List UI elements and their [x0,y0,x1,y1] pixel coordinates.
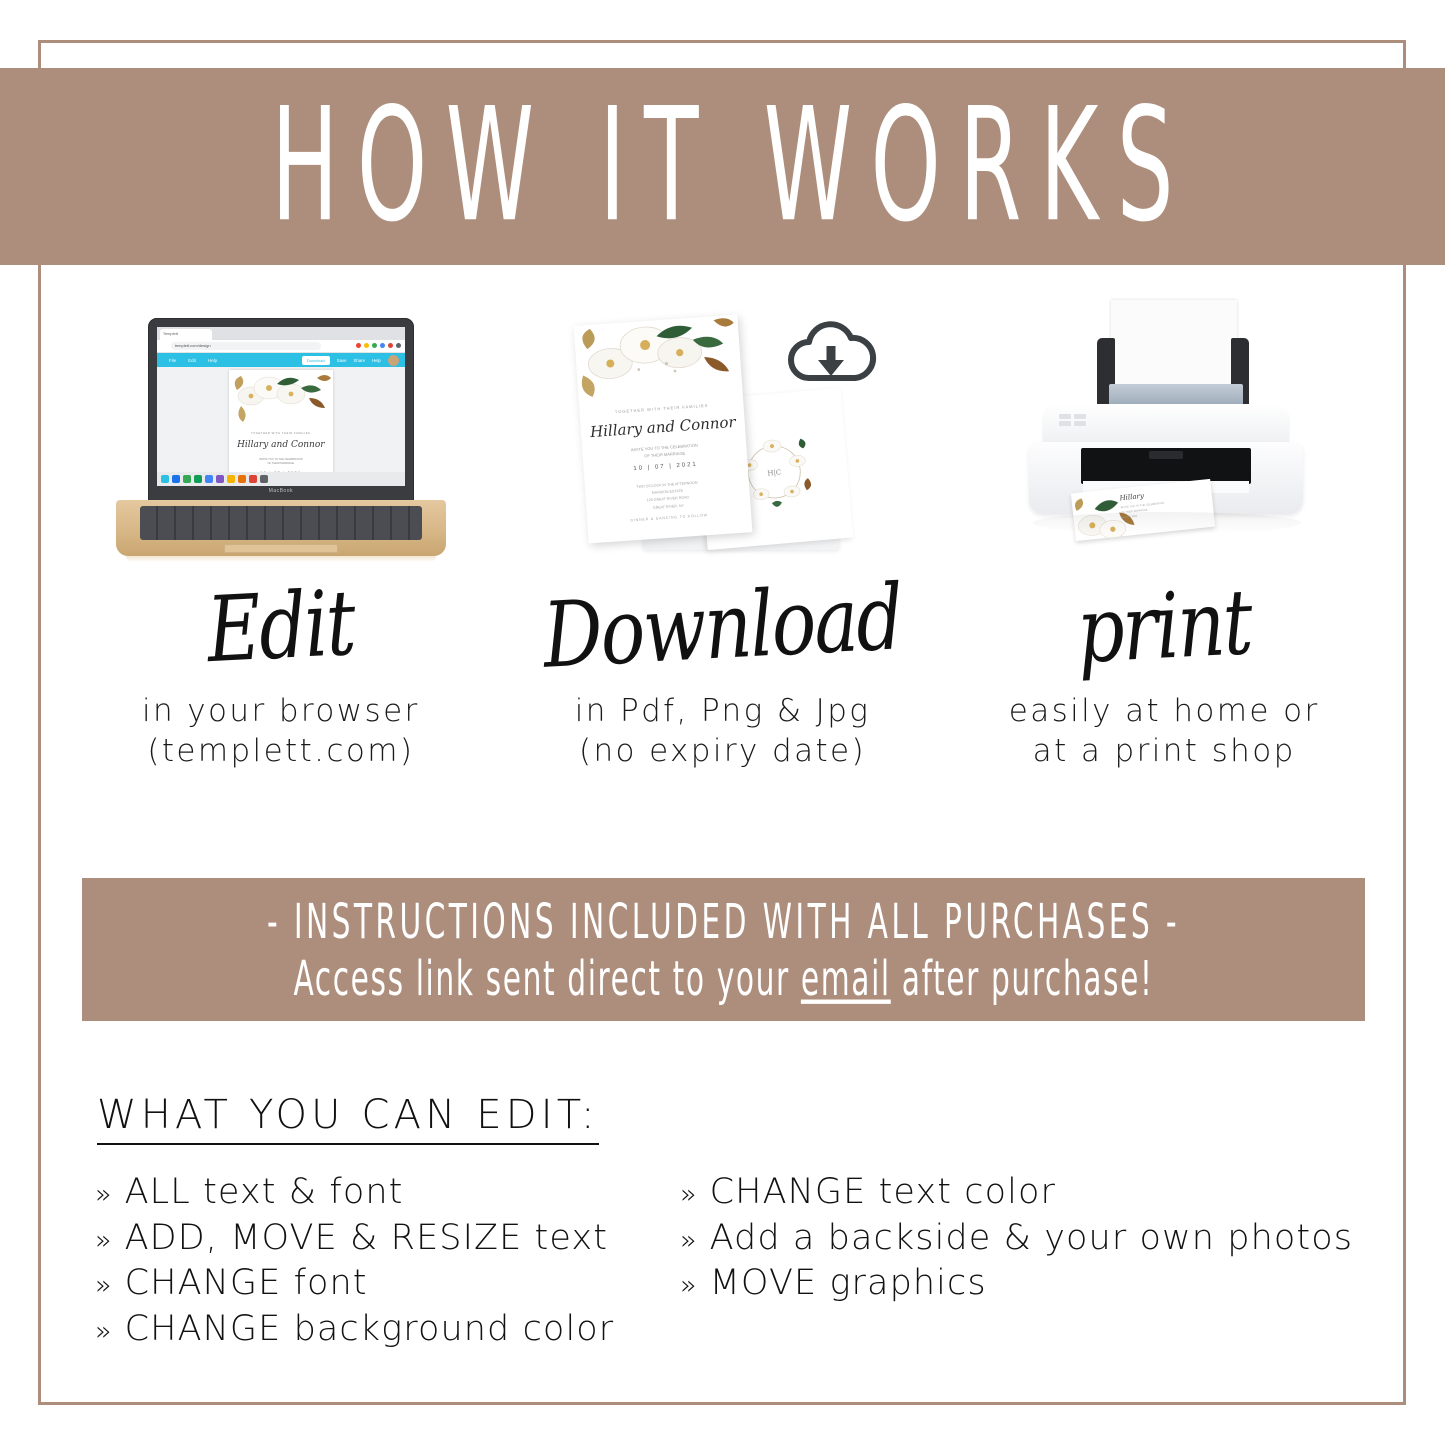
step-download: H|C [502,278,944,808]
edit-feature-lists: » ALL text & font » ADD, MOVE & RESIZE t… [95,1172,1395,1355]
bullet-icon: » [95,1225,113,1257]
list-item: » MOVE graphics [680,1263,1395,1305]
laptop-screen: Templett templett.com/design File Edit [157,327,405,486]
edit-list-left: » ALL text & font » ADD, MOVE & RESIZE t… [95,1172,680,1355]
list-item: » CHANGE background color [95,1309,680,1351]
printer-control-panel [1059,414,1089,434]
bullet-icon: » [680,1179,698,1211]
bullet-icon: » [95,1316,113,1348]
list-item-label: CHANGE font [125,1263,368,1305]
cloud-download-icon [785,316,877,390]
bullet-icon: » [95,1270,113,1302]
list-item-label: CHANGE background color [125,1309,615,1351]
instructions-subline-before: Access link sent direct to your [293,950,800,1007]
editor-menu-file: File [169,358,176,363]
step-edit-illustration: Templett templett.com/design File Edit [60,278,502,568]
list-item: » CHANGE text color [680,1172,1395,1214]
laptop-keyboard [140,506,422,540]
laptop-illustration: Templett templett.com/design File Edit [116,318,446,568]
edit-section-title: WHAT YOU CAN EDIT: [97,1092,599,1145]
editor-share-button: Share [354,358,365,363]
step-print-illustration: Hillary INVITE YOU TO THE CELEBRATIONOF … [943,278,1385,568]
editor-canvas: TOGETHER WITH THEIR FAMILIES Hillary and… [157,367,405,472]
email-link[interactable]: email [801,950,891,1007]
floral-graphic [573,315,742,408]
editor-toolbar-actions: Download Save Share Help [302,355,399,366]
list-item-label: CHANGE text color [710,1172,1056,1214]
list-item: » ADD, MOVE & RESIZE text [95,1218,680,1260]
editor-help-link: Help [372,358,381,363]
step-edit-caption-line2: (templett.com) [142,732,420,772]
list-item-label: MOVE graphics [710,1263,987,1305]
bullet-icon: » [680,1225,698,1257]
list-item-label: Add a backside & your own photos [710,1218,1353,1260]
printer-slot-handle [1149,451,1183,459]
browser-tabstrip: Templett [157,327,405,340]
step-edit: Templett templett.com/design File Edit [60,278,502,808]
editor-download-button: Download [302,356,330,365]
list-item: » ALL text & font [95,1172,680,1214]
printer-shadow [1033,512,1301,534]
instructions-headline: - INSTRUCTIONS INCLUDED WITH ALL PURCHAS… [267,893,1180,950]
avatar [388,355,399,366]
printer-output-slot [1081,448,1251,484]
instructions-banner: - INSTRUCTIONS INCLUDED WITH ALL PURCHAS… [82,878,1365,1021]
instructions-subline-after: after purchase! [891,950,1154,1007]
invitation-envelope-illustration: H|C [563,306,883,568]
step-download-caption-line2: (no expiry date) [575,732,871,772]
laptop-lid: Templett templett.com/design File Edit [148,318,414,504]
list-item-label: ALL text & font [125,1172,404,1214]
editor-menu-help: Help [208,358,217,363]
floral-graphic [229,370,333,430]
browser-url-text: templett.com/design [175,343,211,348]
step-print-caption-line2: at a print shop [1009,732,1320,772]
editor-toolbar: File Edit Help Download Save Share Help [157,353,405,368]
list-item: » CHANGE font [95,1263,680,1305]
edit-list-right: » CHANGE text color » Add a backside & y… [680,1172,1395,1355]
editor-menu-edit: Edit [188,358,196,363]
browser-extension-icons [356,343,401,348]
step-print-script-label: print [1074,551,1255,704]
list-item: » Add a backside & your own photos [680,1218,1395,1260]
os-taskbar [157,472,405,486]
step-download-illustration: H|C [502,278,944,568]
laptop-trackpad [224,544,338,553]
bullet-icon: » [95,1179,113,1211]
browser-tab-label: Templett [163,331,178,336]
step-print: Hillary INVITE YOU TO THE CELEBRATIONOF … [943,278,1385,808]
list-item-label: ADD, MOVE & RESIZE text [125,1218,608,1260]
printer-illustration: Hillary INVITE YOU TO THE CELEBRATIONOF … [999,300,1329,568]
svg-text:H|C: H|C [767,468,781,477]
browser-urlbar-row: templett.com/design [157,340,405,353]
editor-invitation-preview: TOGETHER WITH THEIR FAMILIES Hillary and… [229,370,333,486]
title-banner: HOW IT WORKS [0,68,1445,265]
step-download-script-label: Download [540,546,906,709]
step-print-caption: easily at home or at a print shop [1009,692,1320,771]
bullet-icon: » [680,1270,698,1302]
page-title: HOW IT WORKS [253,88,1192,245]
editor-save-button: Save [337,358,347,363]
steps-row: Templett templett.com/design File Edit [60,278,1385,808]
laptop-brand-badge: MacBook [269,488,293,494]
step-edit-script-label: Edit [204,551,358,702]
step-edit-caption: in your browser (templett.com) [142,692,420,771]
invitation-card: TOGETHER WITH THEIR FAMILIES Hillary and… [573,315,752,544]
instructions-subline: Access link sent direct to your email af… [293,950,1153,1007]
